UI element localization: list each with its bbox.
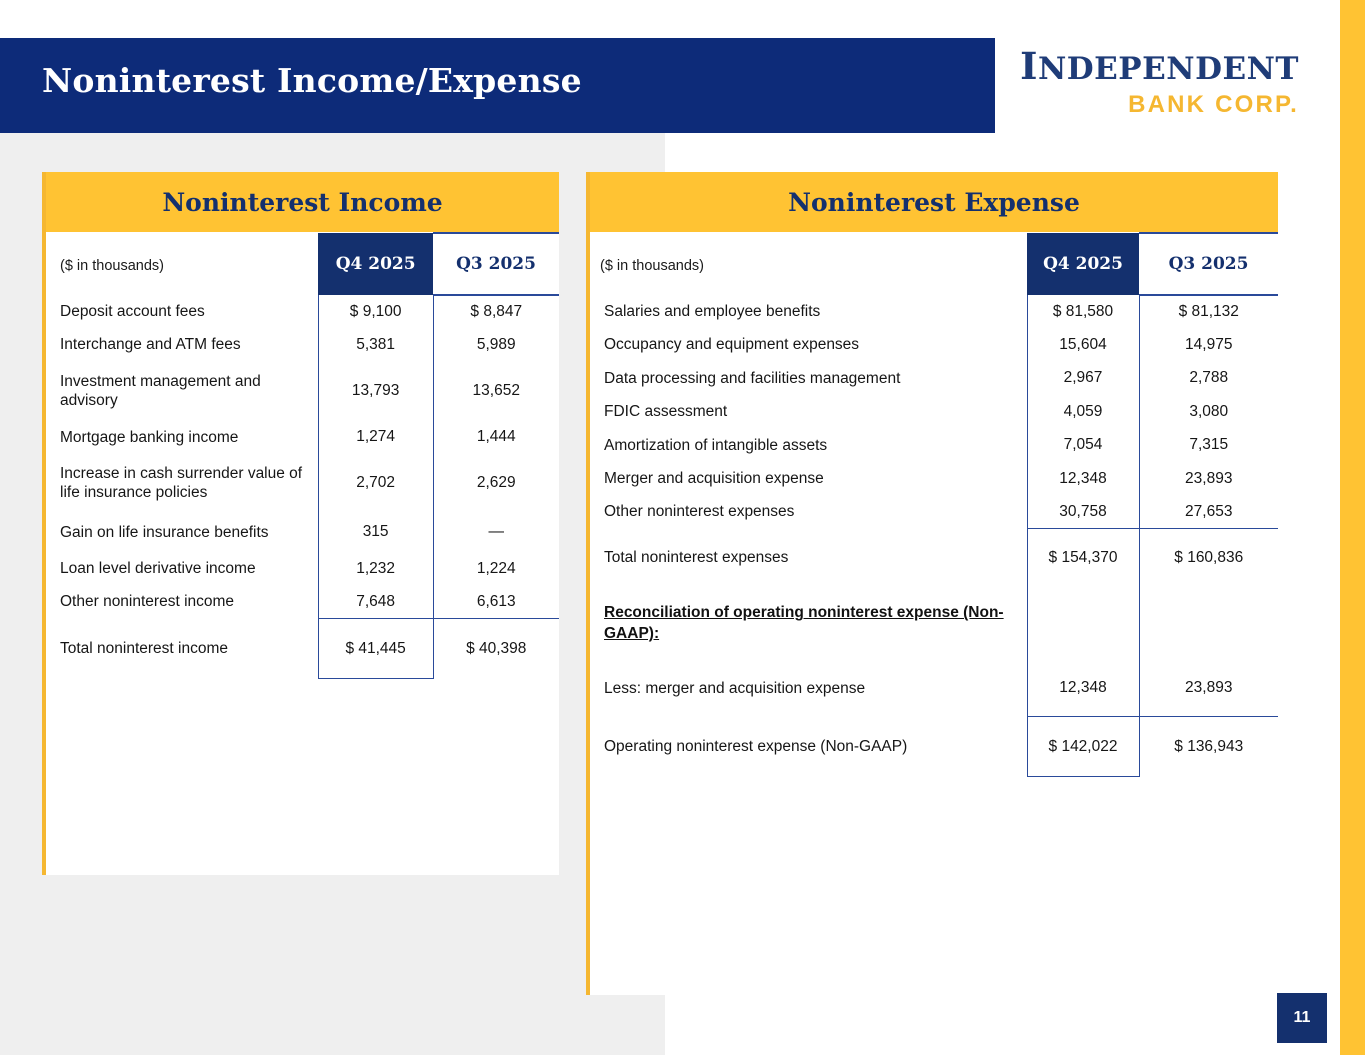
expense-row-q4: 15,604: [1027, 328, 1139, 361]
noninterest-expense-table: Q4 2025 Q3 2025 Salaries and employee be…: [590, 232, 1278, 777]
logo-wordmark-bank-corp: BANK CORP.: [1020, 93, 1299, 117]
income-row-q4: 2,702: [318, 454, 433, 513]
table-row: Occupancy and equipment expenses 15,604 …: [590, 328, 1278, 361]
table-row: Less: merger and acquisition expense 12,…: [590, 661, 1278, 717]
expense-row-q3: 2,788: [1139, 362, 1278, 395]
expense-row-label: Salaries and employee benefits: [590, 295, 1027, 328]
expense-row-q4: 12,348: [1027, 462, 1139, 495]
income-total-label: Total noninterest income: [46, 619, 318, 679]
income-row-q3: 13,652: [433, 362, 559, 421]
expense-row-q3: 27,653: [1139, 495, 1278, 528]
table-row: Loan level derivative income 1,232 1,224: [46, 552, 559, 585]
reconciliation-heading: Reconciliation of operating noninterest …: [590, 587, 1027, 661]
table-row: FDIC assessment 4,059 3,080: [590, 395, 1278, 428]
income-row-q3: 5,989: [433, 328, 559, 361]
reconciliation-row-q3: 23,893: [1139, 661, 1278, 717]
operating-expense-total-row: Operating noninterest expense (Non-GAAP)…: [590, 717, 1278, 777]
reconciliation-heading-q4-spacer: [1027, 587, 1139, 661]
income-total-q4: $ 41,445: [318, 619, 433, 679]
table-row: Increase in cash surrender value of life…: [46, 454, 559, 513]
income-col-header-q4: Q4 2025: [318, 233, 433, 295]
operating-expense-total-label: Operating noninterest expense (Non-GAAP): [590, 717, 1027, 777]
expense-total-q3: $ 160,836: [1139, 529, 1278, 587]
expense-row-q4: 7,054: [1027, 429, 1139, 462]
income-row-q3: 1,444: [433, 421, 559, 454]
logo-initial-i: I: [1020, 44, 1038, 88]
expense-row-q3: 23,893: [1139, 462, 1278, 495]
expense-row-q3: 3,080: [1139, 395, 1278, 428]
noninterest-income-card: Noninterest Income ($ in thousands) Q4 2…: [42, 172, 559, 875]
operating-expense-total-q4: $ 142,022: [1027, 717, 1139, 777]
expense-total-q4: $ 154,370: [1027, 529, 1139, 587]
income-row-q4: 1,232: [318, 552, 433, 585]
income-row-label: Mortgage banking income: [46, 421, 318, 454]
reconciliation-row-q4: 12,348: [1027, 661, 1139, 717]
expense-row-label: Other noninterest expenses: [590, 495, 1027, 528]
table-row: Mortgage banking income 1,274 1,444: [46, 421, 559, 454]
noninterest-expense-heading: Noninterest Expense: [590, 172, 1278, 232]
income-row-q3: 6,613: [433, 585, 559, 618]
income-row-label: Loan level derivative income: [46, 552, 318, 585]
expense-row-label: Occupancy and equipment expenses: [590, 328, 1027, 361]
income-row-q3: $ 8,847: [433, 295, 559, 328]
table-row: Investment management and advisory 13,79…: [46, 362, 559, 421]
table-row: Amortization of intangible assets 7,054 …: [590, 429, 1278, 462]
table-row: Other noninterest expenses 30,758 27,653: [590, 495, 1278, 528]
income-row-label: Gain on life insurance benefits: [46, 513, 318, 552]
table-row: Merger and acquisition expense 12,348 23…: [590, 462, 1278, 495]
income-row-label: Other noninterest income: [46, 585, 318, 618]
expense-row-label: Data processing and facilities managemen…: [590, 362, 1027, 395]
expense-row-label: Merger and acquisition expense: [590, 462, 1027, 495]
expense-row-q3: 7,315: [1139, 429, 1278, 462]
page-title: Noninterest Income/Expense: [42, 61, 582, 100]
reconciliation-row-label: Less: merger and acquisition expense: [590, 661, 1027, 717]
income-total-q3: $ 40,398: [433, 619, 559, 679]
expense-col-header-q3: Q3 2025: [1139, 233, 1278, 295]
reconciliation-heading-q3-spacer: [1139, 587, 1278, 661]
expense-row-q3: $ 81,132: [1139, 295, 1278, 328]
right-edge-accent-bar: [1340, 0, 1365, 1055]
income-row-label: Deposit account fees: [46, 295, 318, 328]
expense-row-q4: 4,059: [1027, 395, 1139, 428]
income-row-q4: 5,381: [318, 328, 433, 361]
table-row: Gain on life insurance benefits 315 —: [46, 513, 559, 552]
table-row: Salaries and employee benefits $ 81,580 …: [590, 295, 1278, 328]
income-row-label: Interchange and ATM fees: [46, 328, 318, 361]
expense-row-q4: $ 81,580: [1027, 295, 1139, 328]
income-row-q4: 13,793: [318, 362, 433, 421]
income-row-label: Investment management and advisory: [46, 362, 318, 421]
expense-row-q3: 14,975: [1139, 328, 1278, 361]
page-number-badge: 11: [1277, 993, 1327, 1043]
income-row-q4: 315: [318, 513, 433, 552]
expense-row-label: FDIC assessment: [590, 395, 1027, 428]
noninterest-income-table: Q4 2025 Q3 2025 Deposit account fees $ 9…: [46, 232, 559, 679]
table-row: Other noninterest income 7,648 6,613: [46, 585, 559, 618]
operating-expense-total-q3: $ 136,943: [1139, 717, 1278, 777]
reconciliation-heading-row: Reconciliation of operating noninterest …: [590, 587, 1278, 661]
logo-wordmark-independent: INDEPENDENT: [1020, 48, 1299, 85]
income-row-q4: 1,274: [318, 421, 433, 454]
expense-row-q4: 2,967: [1027, 362, 1139, 395]
income-row-q3: 1,224: [433, 552, 559, 585]
income-total-row: Total noninterest income $ 41,445 $ 40,3…: [46, 619, 559, 679]
income-row-q4: $ 9,100: [318, 295, 433, 328]
table-row: Interchange and ATM fees 5,381 5,989: [46, 328, 559, 361]
income-row-q4: 7,648: [318, 585, 433, 618]
table-row: Deposit account fees $ 9,100 $ 8,847: [46, 295, 559, 328]
table-row: Data processing and facilities managemen…: [590, 362, 1278, 395]
expense-units-label: ($ in thousands): [600, 258, 704, 274]
expense-row-label: Amortization of intangible assets: [590, 429, 1027, 462]
noninterest-income-heading: Noninterest Income: [46, 172, 559, 232]
company-logo: INDEPENDENT BANK CORP.: [1020, 48, 1299, 117]
income-row-label: Increase in cash surrender value of life…: [46, 454, 318, 513]
expense-total-label: Total noninterest expenses: [590, 529, 1027, 587]
income-row-q3: 2,629: [433, 454, 559, 513]
noninterest-expense-card: Noninterest Expense ($ in thousands) Q4 …: [586, 172, 1278, 995]
expense-total-row: Total noninterest expenses $ 154,370 $ 1…: [590, 529, 1278, 587]
expense-col-header-q4: Q4 2025: [1027, 233, 1139, 295]
expense-row-q4: 30,758: [1027, 495, 1139, 528]
income-col-header-q3: Q3 2025: [433, 233, 559, 295]
income-units-label: ($ in thousands): [60, 258, 164, 274]
logo-wordmark-independent-text: NDEPENDENT: [1038, 51, 1299, 87]
income-row-q3: —: [433, 513, 559, 552]
